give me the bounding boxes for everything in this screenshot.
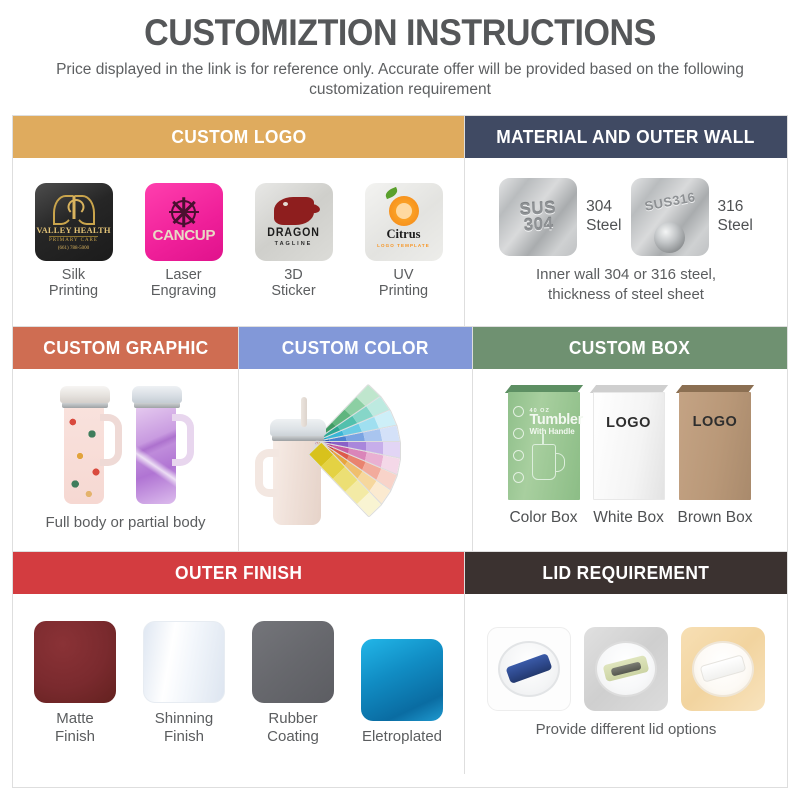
box-option-color[interactable]: 40 OZ Tumbler With Handle Color Box: [508, 392, 580, 527]
section-title-lid-requirement: LID REQUIREMENT: [543, 562, 710, 584]
graphic-tumblers: [60, 386, 192, 504]
steel-option-304[interactable]: SUS 304 304 Steel: [499, 178, 621, 256]
tumbler-handle: [255, 449, 279, 497]
label-silk-printing: Silk Printing: [49, 267, 98, 300]
label-3d-sticker: 3D Sticker: [271, 267, 315, 300]
sections-grid: CUSTOM LOGO VALLEY HEALTH PRIMARY CARE (…: [12, 115, 788, 788]
label-laser-engraving: Laser Engraving: [151, 267, 216, 300]
silk-printing-logo-icon: VALLEY HEALTH PRIMARY CARE (661) 788-500…: [35, 183, 113, 261]
tumbler-lid: [270, 419, 326, 436]
custom-box-body: 40 OZ Tumbler With Handle Color Box: [473, 369, 787, 551]
box-product-title: Tumbler: [530, 414, 583, 428]
section-material-outer-wall[interactable]: MATERIAL AND OUTER WALL SUS 304: [465, 116, 787, 326]
white-box-icon: LOGO: [593, 392, 665, 500]
section-header-material: MATERIAL AND OUTER WALL: [465, 116, 787, 158]
logo-option-uv-printing[interactable]: Citrus LOGO TEMPLATE UV Printing: [356, 183, 452, 300]
section-header-lid-requirement: LID REQUIREMENT: [465, 552, 787, 594]
label-eletroplated: Eletroplated: [362, 728, 442, 745]
custom-logo-body: VALLEY HEALTH PRIMARY CARE (661) 788-500…: [13, 158, 464, 326]
orange-slice-icon: [389, 196, 419, 226]
dragon-wordmark: DRAGON: [267, 227, 320, 239]
label-line-2: Engraving: [151, 283, 216, 300]
page-header: CUSTOMIZTION INSTRUCTIONS Price displaye…: [0, 0, 800, 107]
matte-finish-swatch: [34, 621, 116, 703]
citrus-sub: LOGO TEMPLATE: [377, 243, 430, 248]
label-line-1: 3D: [271, 267, 315, 284]
label-line-1: 304: [586, 198, 621, 217]
shinning-finish-swatch: [143, 621, 225, 703]
label-shinning-finish: Shinning Finish: [155, 710, 213, 745]
section-title-custom-graphic: CUSTOM GRAPHIC: [43, 337, 208, 359]
uv-printing-logo-icon: Citrus LOGO TEMPLATE: [365, 183, 443, 261]
box-logo-text: LOGO: [594, 415, 664, 431]
box-option-white[interactable]: LOGO White Box: [593, 392, 665, 527]
3d-sticker-logo-icon: DRAGON TAGLINE: [255, 183, 333, 261]
label-line-1: Shinning: [155, 710, 213, 727]
lid-requirement-body: Provide different lid options: [465, 594, 787, 774]
sus304-stamp: SUS 304: [519, 200, 557, 234]
box-feature-icons: [513, 406, 524, 483]
label-line-2: Steel: [718, 217, 753, 236]
box-product-sub: With Handle: [530, 427, 583, 436]
steel-option-316[interactable]: SUS316 316 Steel: [631, 178, 753, 256]
custom-logo-items: VALLEY HEALTH PRIMARY CARE (661) 788-500…: [26, 183, 452, 300]
tumbler-handle: [100, 414, 122, 466]
box-front-face: LOGO: [593, 392, 665, 500]
page-title: CUSTOMIZTION INSTRUCTIONS: [50, 14, 749, 53]
label-316-steel: 316 Steel: [718, 198, 753, 235]
infographic-page: CUSTOMIZTION INSTRUCTIONS Price displaye…: [0, 0, 800, 800]
caption-line-1: Inner wall 304 or 316 steel,: [536, 265, 716, 285]
section-custom-color[interactable]: CUSTOM COLOR: [239, 327, 473, 551]
label-line-2: Finish: [55, 728, 95, 745]
section-header-custom-color: CUSTOM COLOR: [239, 327, 472, 369]
section-custom-graphic[interactable]: CUSTOM GRAPHIC: [13, 327, 239, 551]
box-front-face: LOGO: [679, 392, 751, 500]
section-title-material: MATERIAL AND OUTER WALL: [497, 126, 756, 148]
label-line-1: Matte: [55, 710, 95, 727]
stamp-line-2: 304: [520, 216, 557, 234]
section-outer-finish[interactable]: OUTER FINISH Matte Finish: [13, 552, 465, 774]
valley-health-name: VALLEY HEALTH: [36, 225, 110, 235]
dragon-tagline: TAGLINE: [275, 241, 313, 247]
tumbler-body: [64, 404, 104, 504]
lid-option-white-icon[interactable]: [681, 627, 765, 711]
tumbler-handle: [172, 414, 194, 466]
color-box-icon: 40 OZ Tumbler With Handle: [508, 392, 580, 500]
valley-health-sub: PRIMARY CARE: [49, 236, 98, 243]
tumbler-lid: [132, 386, 182, 403]
eletroplated-swatch: [361, 639, 443, 721]
label-line-1: Laser: [151, 267, 216, 284]
ship-wheel-icon: [171, 200, 196, 225]
label-line-2: Printing: [49, 283, 98, 300]
box-options: 40 OZ Tumbler With Handle Color Box: [508, 392, 753, 527]
custom-graphic-body: Full body or partial body: [13, 369, 238, 551]
finish-option-matte[interactable]: Matte Finish: [26, 621, 124, 745]
section-title-outer-finish: OUTER FINISH: [175, 562, 302, 584]
laser-engraving-logo-icon: CANCUP: [145, 183, 223, 261]
laurel-icon: [53, 193, 95, 223]
section-lid-requirement[interactable]: LID REQUIREMENT: [465, 552, 787, 774]
logo-option-3d-sticker[interactable]: DRAGON TAGLINE 3D Sticker: [246, 183, 342, 300]
cancup-wordmark: CANCUP: [152, 228, 215, 244]
finish-option-shinning[interactable]: Shinning Finish: [135, 621, 233, 745]
label-brown-box: Brown Box: [678, 509, 753, 527]
label-line-2: Printing: [379, 283, 428, 300]
label-line-1: UV: [379, 267, 428, 284]
tumbler-purple-marble-icon: [132, 386, 192, 504]
tumbler-lid: [60, 386, 110, 403]
rubber-coating-swatch: [252, 621, 334, 703]
label-line-2: Sticker: [271, 283, 315, 300]
label-line-2: Coating: [267, 728, 319, 745]
label-line-2: Steel: [586, 217, 621, 236]
sus304-tile-icon: SUS 304: [499, 178, 577, 256]
page-subtitle: Price displayed in the link is for refer…: [35, 60, 765, 101]
label-matte-finish: Matte Finish: [55, 710, 95, 745]
custom-graphic-caption: Full body or partial body: [45, 513, 205, 533]
label-white-box: White Box: [593, 509, 664, 527]
section-header-custom-box: CUSTOM BOX: [473, 327, 787, 369]
sus316-stamp: SUS316: [643, 189, 696, 214]
color-stage: [243, 389, 468, 529]
outer-finish-body: Matte Finish Shinning Finish: [13, 594, 464, 774]
tumbler-straw: [301, 397, 307, 427]
custom-color-body: [239, 369, 472, 551]
section-title-custom-logo: CUSTOM LOGO: [171, 126, 306, 148]
tumbler-christmas-pattern-icon: [60, 386, 120, 504]
section-row-2: CUSTOM GRAPHIC: [13, 327, 787, 552]
caduceus-icon: [72, 196, 75, 219]
lid-option-blue-icon[interactable]: [487, 627, 571, 711]
label-uv-printing: UV Printing: [379, 267, 428, 300]
lid-requirement-caption: Provide different lid options: [536, 720, 717, 740]
lid-options: [487, 627, 765, 711]
label-line-2: Finish: [155, 728, 213, 745]
section-custom-logo[interactable]: CUSTOM LOGO VALLEY HEALTH PRIMARY CARE (…: [13, 116, 465, 326]
label-304-steel: 304 Steel: [586, 198, 621, 235]
section-header-custom-logo: CUSTOM LOGO: [13, 116, 464, 158]
box-text-block: 40 OZ Tumbler With Handle: [530, 408, 583, 437]
label-line-1: Rubber: [267, 710, 319, 727]
box-logo-text: LOGO: [679, 414, 751, 430]
section-custom-box[interactable]: CUSTOM BOX 40 OZ Tumbler: [473, 327, 787, 551]
logo-option-silk-printing[interactable]: VALLEY HEALTH PRIMARY CARE (661) 788-500…: [26, 183, 122, 300]
dimple-shape: [654, 222, 685, 253]
valley-health-phone: (661) 788-5000: [58, 246, 89, 251]
finish-option-rubber[interactable]: Rubber Coating: [244, 621, 342, 745]
tumbler-outline-icon: [532, 444, 556, 480]
section-title-custom-color: CUSTOM COLOR: [282, 337, 429, 359]
citrus-wordmark: Citrus: [386, 227, 420, 242]
box-front-face: 40 OZ Tumbler With Handle: [508, 392, 580, 500]
brown-box-icon: LOGO: [679, 392, 751, 500]
label-color-box: Color Box: [509, 509, 577, 527]
label-line-1: 316: [718, 198, 753, 217]
caption-line-2: thickness of steel sheet: [536, 285, 716, 305]
lid-option-green-icon[interactable]: [584, 627, 668, 711]
finish-option-electroplated[interactable]: Eletroplated: [353, 639, 451, 745]
section-header-custom-graphic: CUSTOM GRAPHIC: [13, 327, 238, 369]
sus316-tile-icon: SUS316: [631, 178, 709, 256]
box-option-brown[interactable]: LOGO Brown Box: [678, 392, 753, 527]
steel-options: SUS 304 304 Steel SUS316: [499, 178, 753, 256]
section-title-custom-box: CUSTOM BOX: [569, 337, 690, 359]
label-rubber-coating: Rubber Coating: [267, 710, 319, 745]
logo-option-laser-engraving[interactable]: CANCUP Laser Engraving: [136, 183, 232, 300]
material-body: SUS 304 304 Steel SUS316: [465, 158, 787, 326]
dragon-icon: [274, 197, 314, 225]
finish-options: Matte Finish Shinning Finish: [26, 621, 451, 745]
section-header-outer-finish: OUTER FINISH: [13, 552, 464, 594]
label-line-1: Eletroplated: [362, 728, 442, 745]
section-row-3: OUTER FINISH Matte Finish: [13, 552, 787, 774]
label-line-1: Silk: [49, 267, 98, 284]
material-caption: Inner wall 304 or 316 steel, thickness o…: [536, 265, 716, 304]
tumbler-body: [136, 404, 176, 504]
section-row-1: CUSTOM LOGO VALLEY HEALTH PRIMARY CARE (…: [13, 116, 787, 327]
